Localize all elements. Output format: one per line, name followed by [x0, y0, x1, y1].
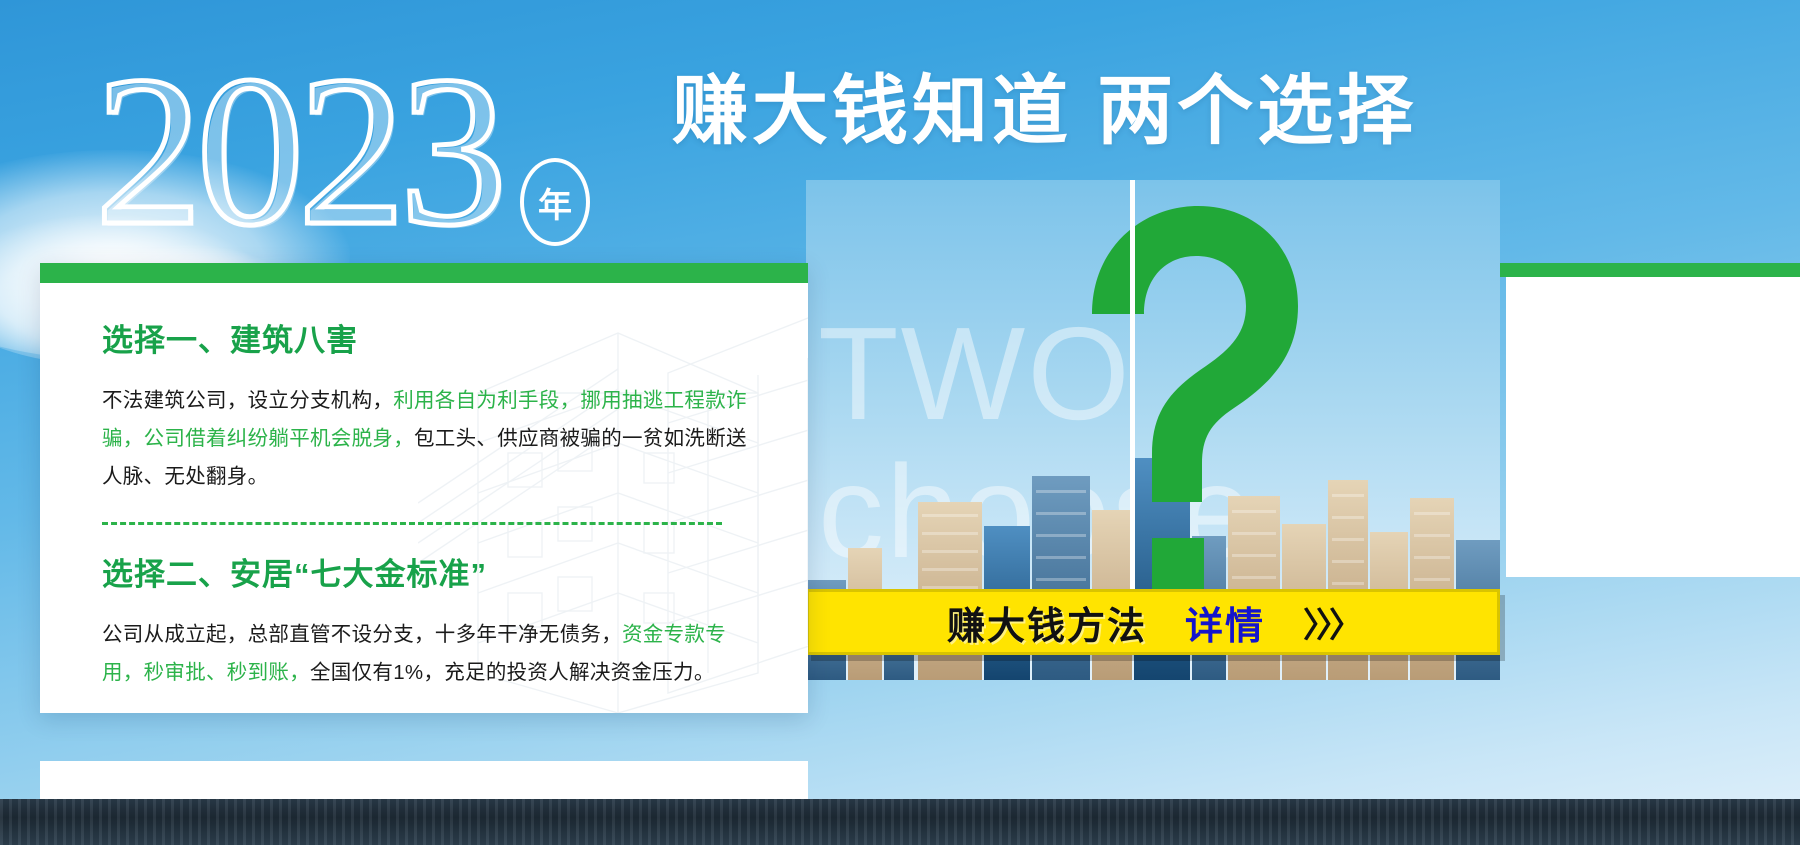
section-2-paragraph: 公司从成立起，总部直管不设分支，十多年干净无债务，资金专款专用，秒审批、秒到账，… [102, 616, 762, 692]
section-2-text-a: 公司从成立起，总部直管不设分支，十多年干净无债务， [102, 623, 622, 646]
section-2-title: 选择二、安居“七大金标准” [102, 549, 762, 594]
year-number: 2023 [95, 52, 501, 250]
cta-detail-link[interactable]: 详情 [1185, 595, 1265, 650]
year-unit-badge: 年 [520, 158, 590, 246]
panel-vertical-divider [1130, 180, 1135, 590]
chevron-right-icon: 〉〉〉 [1303, 598, 1359, 647]
bottom-reflection-strip [0, 799, 1800, 845]
cta-main-label: 赚大钱方法 [947, 595, 1147, 650]
card-lower-extension [40, 761, 808, 799]
right-green-bar [1500, 263, 1800, 277]
page-title: 赚大钱知道 两个选择 [672, 72, 1417, 152]
card-green-topbar [40, 263, 808, 283]
section-divider [102, 522, 722, 525]
section-1-text-a: 不法建筑公司，设立分支机构， [102, 389, 393, 412]
poster-banner: 2023 年 赚大钱知道 两个选择 TWO choose [0, 0, 1800, 845]
section-2-text-c: 全国仅有1%，充足的投资人解决资金压力。 [310, 661, 715, 684]
year-display: 2023 [95, 52, 501, 250]
info-card: 选择一、建筑八害 不法建筑公司，设立分支机构，利用各自为利手段，挪用抽逃工程款诈… [40, 263, 808, 713]
cta-banner[interactable]: 赚大钱方法 详情 〉〉〉 [806, 589, 1500, 655]
section-1-title: 选择一、建筑八害 [102, 315, 762, 360]
right-white-block [1506, 277, 1800, 577]
section-1-paragraph: 不法建筑公司，设立分支机构，利用各自为利手段，挪用抽逃工程款诈骗，公司借着纠纷躺… [102, 382, 762, 496]
card-body: 选择一、建筑八害 不法建筑公司，设立分支机构，利用各自为利手段，挪用抽逃工程款诈… [102, 315, 762, 692]
